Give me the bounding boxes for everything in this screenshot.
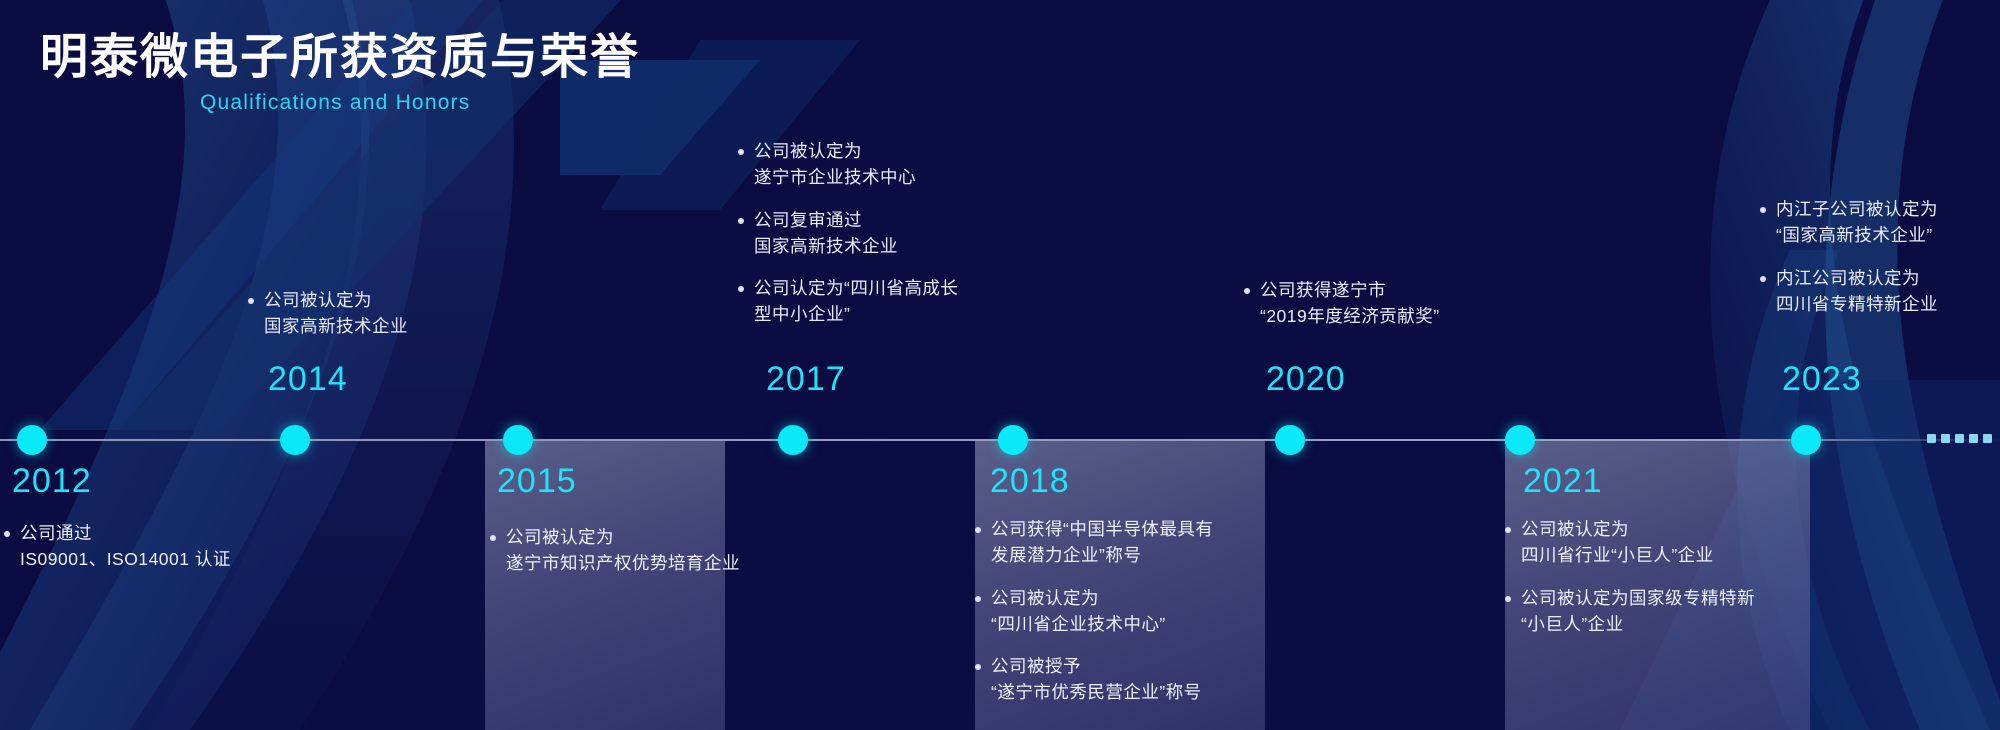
timeline-bullet-text: 公司复审通过 国家高新技术企业: [754, 207, 898, 260]
timeline-bullets-2017: 公司被认定为 遂宁市企业技术中心公司复审通过 国家高新技术企业公司认定为“四川省…: [738, 138, 1078, 328]
timeline-bullet-item: 公司复审通过 国家高新技术企业: [738, 207, 1078, 260]
page-title: 明泰微电子所获资质与荣誉: [40, 30, 640, 85]
timeline-year-label-2018: 2018: [990, 462, 1070, 501]
dash-segment-icon: [1955, 434, 1964, 443]
bullet-dot-icon: [738, 149, 744, 155]
timeline-bullets-2012: 公司通过 IS09001、ISO14001 认证: [4, 520, 334, 573]
bullet-dot-icon: [975, 596, 981, 602]
timeline-node-2018[interactable]: [998, 425, 1028, 455]
timeline-bullet-text: 公司被授予 “遂宁市优秀民营企业”称号: [991, 653, 1202, 706]
timeline-bullet-item: 公司获得遂宁市 “2019年度经济贡献奖”: [1244, 277, 1584, 330]
timeline-year-label-2021: 2021: [1523, 462, 1603, 501]
bullet-dot-icon: [248, 298, 254, 304]
timeline-bullets-2015: 公司被认定为 遂宁市知识产权优势培育企业: [490, 524, 780, 577]
timeline-year-label-2014: 2014: [268, 360, 348, 399]
timeline-axis-dashes: [1927, 434, 1992, 443]
timeline-node-2017[interactable]: [778, 425, 808, 455]
bullet-dot-icon: [1505, 596, 1511, 602]
bullet-dot-icon: [738, 286, 744, 292]
dash-segment-icon: [1983, 434, 1992, 443]
timeline-bullets-2020: 公司获得遂宁市 “2019年度经济贡献奖”: [1244, 277, 1584, 330]
bullet-dot-icon: [1760, 207, 1766, 213]
timeline-bullet-text: 公司通过 IS09001、ISO14001 认证: [20, 520, 231, 573]
dash-segment-icon: [1927, 434, 1936, 443]
timeline-node-2012[interactable]: [17, 425, 47, 455]
timeline-bullet-text: 内江子公司被认定为 “国家高新技术企业”: [1776, 196, 1938, 249]
timeline-bullet-text: 公司被认定为 遂宁市企业技术中心: [754, 138, 916, 191]
timeline-bullet-item: 公司认定为“四川省高成长 型中小企业”: [738, 275, 1078, 328]
bullet-dot-icon: [1244, 288, 1250, 294]
dash-segment-icon: [1969, 434, 1978, 443]
dash-segment-icon: [1941, 434, 1950, 443]
timeline-bullet-text: 公司被认定为 国家高新技术企业: [264, 287, 408, 340]
timeline-bullet-text: 公司被认定为 四川省行业“小巨人”企业: [1521, 516, 1714, 569]
timeline-node-2015[interactable]: [503, 425, 533, 455]
page-header: 明泰微电子所获资质与荣誉 Qualifications and Honors: [40, 30, 640, 115]
timeline-year-label-2012: 2012: [12, 462, 92, 501]
bullet-dot-icon: [738, 218, 744, 224]
bullet-dot-icon: [975, 527, 981, 533]
bullet-dot-icon: [1760, 276, 1766, 282]
timeline-bullet-item: 公司被认定为 “四川省企业技术中心”: [975, 585, 1275, 638]
bullet-dot-icon: [490, 535, 496, 541]
timeline-bullet-item: 公司被认定为 遂宁市知识产权优势培育企业: [490, 524, 780, 577]
timeline-bullet-text: 公司认定为“四川省高成长 型中小企业”: [754, 275, 958, 328]
timeline-node-2014[interactable]: [280, 425, 310, 455]
timeline-bullets-2021: 公司被认定为 四川省行业“小巨人”企业公司被认定为国家级专精特新 “小巨人”企业: [1505, 516, 1825, 637]
timeline-bullet-item: 内江子公司被认定为 “国家高新技术企业”: [1760, 196, 2000, 249]
timeline-node-2020[interactable]: [1275, 425, 1305, 455]
timeline-node-2023[interactable]: [1791, 425, 1821, 455]
timeline-bullet-item: 内江公司被认定为 四川省专精特新企业: [1760, 265, 2000, 318]
timeline-year-label-2020: 2020: [1266, 360, 1346, 399]
timeline-bullet-item: 公司被认定为国家级专精特新 “小巨人”企业: [1505, 585, 1825, 638]
timeline-bullet-item: 公司被认定为 国家高新技术企业: [248, 287, 578, 340]
timeline-bullets-2014: 公司被认定为 国家高新技术企业: [248, 287, 578, 340]
page-subtitle: Qualifications and Honors: [200, 91, 640, 115]
timeline-year-label-2015: 2015: [497, 462, 577, 501]
timeline-year-label-2017: 2017: [766, 360, 846, 399]
timeline-bullet-text: 公司被认定为 “四川省企业技术中心”: [991, 585, 1166, 638]
timeline-bullet-text: 公司被认定为国家级专精特新 “小巨人”企业: [1521, 585, 1755, 638]
timeline-bullet-item: 公司被授予 “遂宁市优秀民营企业”称号: [975, 653, 1275, 706]
bullet-dot-icon: [975, 664, 981, 670]
timeline-bullet-item: 公司通过 IS09001、ISO14001 认证: [4, 520, 334, 573]
timeline-bullet-text: 公司获得“中国半导体最具有 发展潜力企业”称号: [991, 516, 1213, 569]
bullet-dot-icon: [1505, 527, 1511, 533]
timeline-bullet-text: 公司被认定为 遂宁市知识产权优势培育企业: [506, 524, 740, 577]
timeline-bullet-item: 公司被认定为 遂宁市企业技术中心: [738, 138, 1078, 191]
timeline-bullets-2018: 公司获得“中国半导体最具有 发展潜力企业”称号公司被认定为 “四川省企业技术中心…: [975, 516, 1275, 706]
timeline-bullet-text: 公司获得遂宁市 “2019年度经济贡献奖”: [1260, 277, 1440, 330]
timeline-bullets-2023: 内江子公司被认定为 “国家高新技术企业”内江公司被认定为 四川省专精特新企业: [1760, 196, 2000, 317]
bullet-dot-icon: [4, 531, 10, 537]
timeline-year-label-2023: 2023: [1782, 360, 1862, 399]
timeline-bullet-item: 公司获得“中国半导体最具有 发展潜力企业”称号: [975, 516, 1275, 569]
timeline-bullet-text: 内江公司被认定为 四川省专精特新企业: [1776, 265, 1938, 318]
timeline-node-2021[interactable]: [1505, 425, 1535, 455]
timeline-bullet-item: 公司被认定为 四川省行业“小巨人”企业: [1505, 516, 1825, 569]
